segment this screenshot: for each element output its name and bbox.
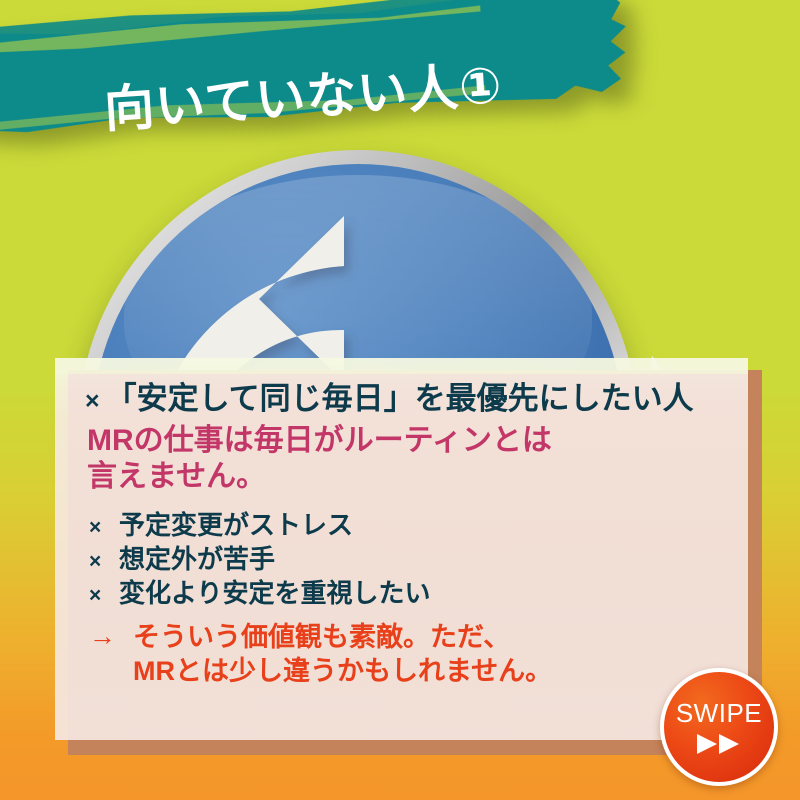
- bullet-text: 予定変更がストレス: [119, 508, 353, 542]
- card-headline: ×「安定して同じ毎日」を最優先にしたい人: [85, 382, 722, 417]
- bullet-x-marker: ×: [89, 582, 119, 610]
- right-arrow-icon: →: [89, 620, 133, 652]
- conclusion-line-2: MRとは少し違うかもしれません。: [133, 654, 552, 688]
- card-lead: MRの仕事は毎日がルーティンとは 言えません。: [87, 423, 722, 496]
- list-item: × 想定外が苦手: [89, 542, 722, 576]
- slide-canvas: 向いていない人① ×「安定して同じ毎日」を最優先にしたい人 MRの仕事は毎日がル…: [0, 0, 800, 800]
- conclusion-text: そういう価値観も素敵。ただ、 MRとは少し違うかもしれません。: [133, 620, 552, 688]
- list-item: × 変化より安定を重視したい: [89, 576, 722, 610]
- lead-line-2: 言えません。: [87, 459, 722, 496]
- bullet-text: 想定外が苦手: [119, 542, 275, 576]
- headline-text: 「安定して同じ毎日」を最優先にしたい人: [106, 381, 694, 416]
- bullet-list: × 予定変更がストレス × 想定外が苦手 × 変化より安定を重視したい: [89, 508, 722, 610]
- content-card: ×「安定して同じ毎日」を最優先にしたい人 MRの仕事は毎日がルーティンとは 言え…: [55, 358, 748, 740]
- conclusion-block: → そういう価値観も素敵。ただ、 MRとは少し違うかもしれません。: [89, 620, 722, 688]
- bullet-x-marker: ×: [89, 514, 119, 542]
- bullet-text: 変化より安定を重視したい: [119, 576, 430, 610]
- card-top-highlight: [55, 358, 748, 374]
- lead-line-1: MRの仕事は毎日がルーティンとは: [87, 423, 722, 460]
- list-item: × 予定変更がストレス: [89, 508, 722, 542]
- conclusion-line-1: そういう価値観も素敵。ただ、: [133, 620, 552, 654]
- fast-forward-icon: [696, 733, 742, 755]
- bullet-x-marker: ×: [89, 548, 119, 576]
- swipe-label: SWIPE: [676, 700, 762, 726]
- swipe-button[interactable]: SWIPE: [660, 668, 778, 786]
- headline-x-marker: ×: [85, 387, 100, 415]
